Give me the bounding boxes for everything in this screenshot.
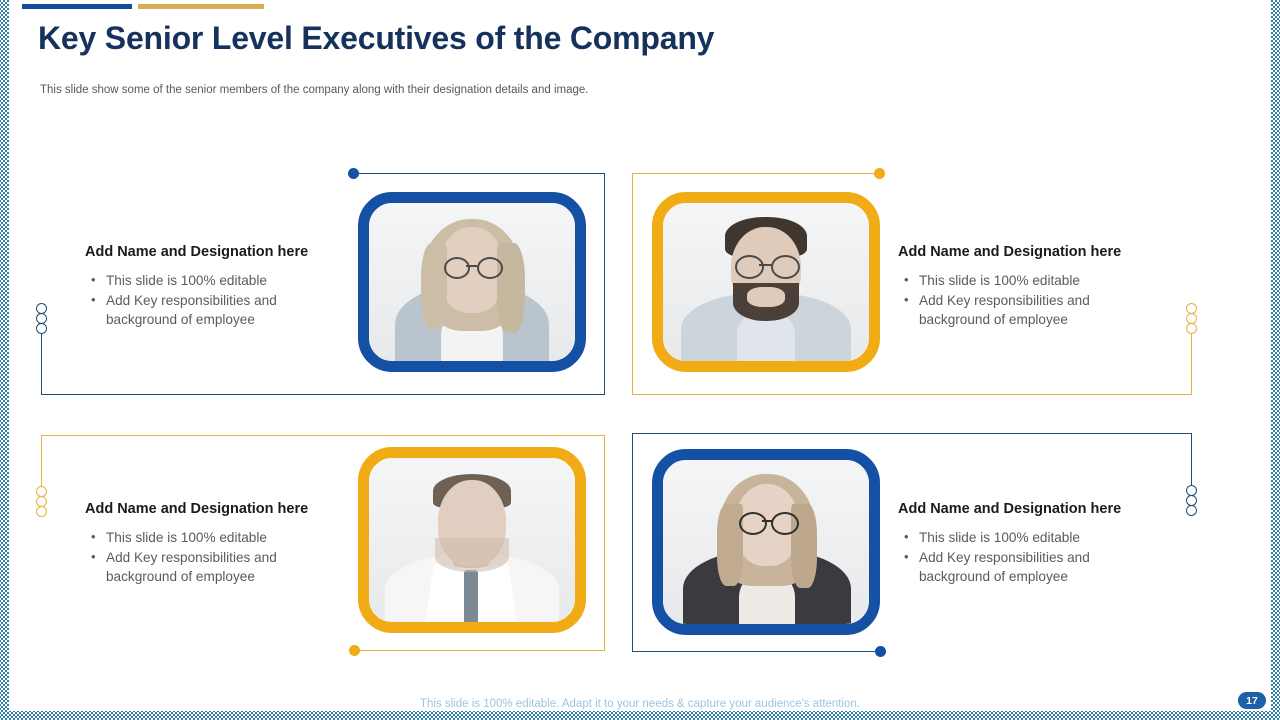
card-1-heading: Add Name and Designation here — [85, 244, 308, 260]
card-1-border-top — [357, 173, 605, 174]
card-4-bullets: This slide is 100% editable Add Key resp… — [901, 528, 1141, 587]
card-1-accent-dot — [348, 168, 359, 179]
card-3-bullet-1: This slide is 100% editable — [88, 528, 328, 548]
card-4-photo — [663, 460, 869, 624]
slide-stage: Key Senior Level Executives of the Compa… — [0, 0, 1280, 720]
footer-note: This slide is 100% editable. Adapt it to… — [0, 698, 1280, 710]
card-2-photo-frame[interactable] — [652, 192, 880, 372]
card-2-photo — [663, 203, 869, 361]
card-2-border-bottom — [632, 394, 1192, 395]
card-4-photo-frame[interactable] — [652, 449, 880, 635]
card-1-photo — [369, 203, 575, 361]
card-1-photo-frame[interactable] — [358, 192, 586, 372]
card-1-bullet-1: This slide is 100% editable — [88, 271, 328, 291]
card-4-ring-3 — [1186, 505, 1197, 516]
card-2-ring-3 — [1186, 323, 1197, 334]
card-3-ring-3 — [36, 506, 47, 517]
card-4-accent-dot — [875, 646, 886, 657]
card-3-accent-dot — [349, 645, 360, 656]
card-4-bullet-1: This slide is 100% editable — [901, 528, 1141, 548]
card-3-border-bottom — [357, 650, 605, 651]
card-1-ring-3 — [36, 323, 47, 334]
page-title: Key Senior Level Executives of the Compa… — [38, 20, 714, 57]
card-1-bullet-2: Add Key responsibilities and background … — [88, 291, 328, 330]
card-2-accent-dot — [874, 168, 885, 179]
accent-bar-gold — [138, 4, 264, 9]
page-subtitle: This slide show some of the senior membe… — [40, 84, 588, 96]
card-3-border-top — [41, 435, 605, 436]
card-2-bullet-1: This slide is 100% editable — [901, 271, 1141, 291]
card-4-border-top — [632, 433, 1192, 434]
page-number-badge: 17 — [1238, 692, 1266, 709]
card-2-bullets: This slide is 100% editable Add Key resp… — [901, 271, 1141, 330]
card-4-border-left — [632, 433, 633, 651]
card-2-border-left — [632, 173, 633, 395]
card-1-bullets: This slide is 100% editable Add Key resp… — [88, 271, 328, 330]
card-4-heading: Add Name and Designation here — [898, 501, 1121, 517]
card-3-border-right — [604, 435, 605, 651]
card-1-border-right — [604, 173, 605, 395]
card-3-heading: Add Name and Designation here — [85, 501, 308, 517]
card-4-border-bottom — [632, 651, 882, 652]
card-3-bullet-2: Add Key responsibilities and background … — [88, 548, 328, 587]
card-2-border-right — [1191, 325, 1192, 395]
card-1-border-left — [41, 325, 42, 395]
card-2-bullet-2: Add Key responsibilities and background … — [901, 291, 1141, 330]
card-2-border-top — [632, 173, 880, 174]
card-3-photo — [369, 458, 575, 622]
card-1-border-bottom — [41, 394, 605, 395]
card-2-heading: Add Name and Designation here — [898, 244, 1121, 260]
card-4-bullet-2: Add Key responsibilities and background … — [901, 548, 1141, 587]
card-3-photo-frame[interactable] — [358, 447, 586, 633]
accent-bar-blue — [22, 4, 132, 9]
card-3-bullets: This slide is 100% editable Add Key resp… — [88, 528, 328, 587]
